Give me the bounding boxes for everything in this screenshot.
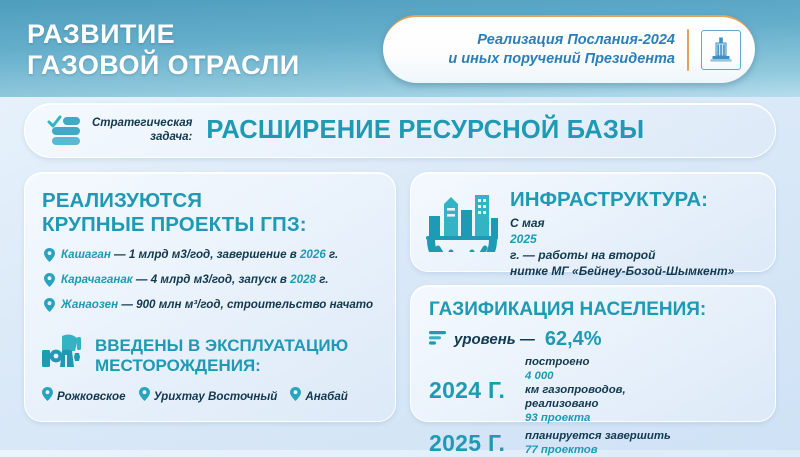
gasification-year-detail: построено 4 000 км газопроводов, реализо… xyxy=(525,355,626,425)
project-dash: — xyxy=(118,298,136,311)
map-pin-icon xyxy=(44,273,55,292)
badge-line1: Реализация Послания-2024 xyxy=(448,31,675,50)
project-dash: — xyxy=(111,248,129,261)
field-name: Рожковское xyxy=(57,390,126,403)
badge-line2: и иных поручений Президента xyxy=(448,50,675,69)
project-text: Карачаганак — 4 млрд м3/год, запуск в 20… xyxy=(61,272,328,287)
checklist-icon xyxy=(47,112,81,150)
strategic-task-bar: Стратегическая задача: РАСШИРЕНИЕ РЕСУРС… xyxy=(24,103,776,158)
strategic-label-line1: Стратегическая xyxy=(92,117,192,131)
detail-a: построено xyxy=(525,355,626,369)
gasification-level-label: уровень — xyxy=(454,331,535,348)
projects-heading-line1: РЕАЛИЗУЮТСЯ xyxy=(42,189,378,213)
map-pin-icon xyxy=(139,387,150,406)
strategic-task-label: Стратегическая задача: xyxy=(92,117,192,144)
projects-list: Кашаган — 1 млрд м3/год, завершение в 20… xyxy=(42,247,378,317)
infra-sub-a: С мая xyxy=(510,215,734,231)
list-item: Анабай xyxy=(290,387,348,406)
infrastructure-heading: ИНФРАСТРУКТУРА: xyxy=(510,188,734,211)
project-text: Жанаозен — 900 млн м³/год, строительство… xyxy=(61,297,373,312)
map-pin-icon xyxy=(42,387,53,406)
project-name: Карачаганак xyxy=(61,273,133,286)
gasification-heading: ГАЗИФИКАЦИЯ НАСЕЛЕНИЯ: xyxy=(429,299,757,321)
project-detail-a: 4 млрд м3/год, запуск в xyxy=(151,273,290,286)
list-item: Рожковское xyxy=(42,387,126,406)
map-pin-icon xyxy=(290,387,301,406)
list-item: Урихтау Восточный xyxy=(139,387,278,406)
detail-highlight: 93 проекта xyxy=(525,412,590,424)
detail-line1: планируется завершить xyxy=(525,429,671,443)
detail-b: км газопроводов, xyxy=(525,383,626,397)
list-item: Карачаганак — 4 млрд м3/год, запуск в 20… xyxy=(42,272,378,292)
commissioned-heading-line2: МЕСТОРОЖДЕНИЯ: xyxy=(95,356,348,376)
detail-a: реализовано xyxy=(525,397,626,411)
gasification-level-value: 62,4% xyxy=(545,328,602,351)
infra-sub-b: г. — работы на второй xyxy=(510,247,734,263)
detail-highlight: 4 000 xyxy=(525,370,554,382)
infrastructure-subtext-line1: С мая 2025 г. — работы на второй xyxy=(510,215,734,263)
project-year: 2026 xyxy=(300,248,326,261)
project-text: Кашаган — 1 млрд м3/год, завершение в 20… xyxy=(61,247,338,262)
project-year: 2028 xyxy=(290,273,316,286)
infrastructure-subtext-line2: нитке МГ «Бейнеу-Бозой-Шымкент» xyxy=(510,263,734,279)
gasification-level-row: уровень — 62,4% xyxy=(429,328,757,351)
project-name: Кашаган xyxy=(61,248,111,261)
infrastructure-subtext: С мая 2025 г. — работы на второй нитке М… xyxy=(510,215,734,279)
project-detail-a: 900 млн м³/год, строительство начато xyxy=(136,298,373,311)
bar-levels-icon xyxy=(429,329,446,351)
detail-line2: реализовано 93 проекта xyxy=(525,397,626,425)
strategic-label-line2: задача: xyxy=(92,131,192,145)
table-row: 2024 Г. построено 4 000 км газопроводов,… xyxy=(429,355,757,425)
handshake-gear-icon xyxy=(42,333,86,378)
city-gear-icon xyxy=(425,186,499,257)
detail-line1: построено 4 000 км газопроводов, xyxy=(525,355,626,397)
commissioned-heading-line1: ВВЕДЕНЫ В ЭКСПЛУАТАЦИЮ xyxy=(95,336,348,356)
projects-heading: РЕАЛИЗУЮТСЯ КРУПНЫЕ ПРОЕКТЫ ГПЗ: xyxy=(42,189,378,237)
akorda-building-icon xyxy=(701,30,741,70)
infrastructure-card: ИНФРАСТРУКТУРА: С мая 2025 г. — работы н… xyxy=(410,172,776,272)
badge-text: Реализация Послания-2024 и иных поручени… xyxy=(448,31,687,69)
project-detail-b: г. xyxy=(316,273,328,286)
map-pin-icon xyxy=(44,248,55,267)
strategic-task-value: РАСШИРЕНИЕ РЕСУРСНОЙ БАЗЫ xyxy=(206,116,644,145)
commissioned-fields-header: ВВЕДЕНЫ В ЭКСПЛУАТАЦИЮ МЕСТОРОЖДЕНИЯ: xyxy=(42,333,378,378)
detail-line2: 77 проектов xyxy=(525,443,671,457)
map-pin-icon xyxy=(44,298,55,317)
project-dash: — xyxy=(133,273,151,286)
project-detail-b: г. xyxy=(326,248,338,261)
field-name: Анабай xyxy=(305,390,348,403)
page-title-line2: ГАЗОВОЙ ОТРАСЛИ xyxy=(27,50,300,81)
page-title-line1: РАЗВИТИЕ xyxy=(27,19,300,50)
list-item: Жанаозен — 900 млн м³/год, строительство… xyxy=(42,297,378,317)
field-name: Урихтау Восточный xyxy=(154,390,278,403)
page-title: РАЗВИТИЕ ГАЗОВОЙ ОТРАСЛИ xyxy=(27,19,300,81)
commissioned-heading: ВВЕДЕНЫ В ЭКСПЛУАТАЦИЮ МЕСТОРОЖДЕНИЯ: xyxy=(95,336,348,376)
presidential-address-badge: Реализация Послания-2024 и иных поручени… xyxy=(383,15,755,83)
badge-divider xyxy=(687,29,689,71)
project-detail-a: 1 млрд м3/год, завершение в xyxy=(129,248,300,261)
projects-heading-line2: КРУПНЫЕ ПРОЕКТЫ ГПЗ: xyxy=(42,213,378,237)
gasification-year: 2025 Г. xyxy=(429,430,525,457)
commissioned-fields-list: Рожковское Урихтау Восточный Анабай xyxy=(42,387,378,406)
gasification-card: ГАЗИФИКАЦИЯ НАСЕЛЕНИЯ: уровень — 62,4% 2… xyxy=(410,285,776,422)
table-row: 2025 Г. планируется завершить 77 проекто… xyxy=(429,429,757,457)
detail-highlight: 77 проектов xyxy=(525,444,598,456)
project-name: Жанаозен xyxy=(61,298,118,311)
page-header: РАЗВИТИЕ ГАЗОВОЙ ОТРАСЛИ Реализация Посл… xyxy=(0,0,800,97)
infra-sub-year: 2025 xyxy=(510,232,537,246)
list-item: Кашаган — 1 млрд м3/год, завершение в 20… xyxy=(42,247,378,267)
major-projects-card: РЕАЛИЗУЮТСЯ КРУПНЫЕ ПРОЕКТЫ ГПЗ: Кашаган… xyxy=(24,172,396,422)
gasification-year: 2024 Г. xyxy=(429,377,525,404)
gasification-year-detail: планируется завершить 77 проектов xyxy=(525,429,671,457)
